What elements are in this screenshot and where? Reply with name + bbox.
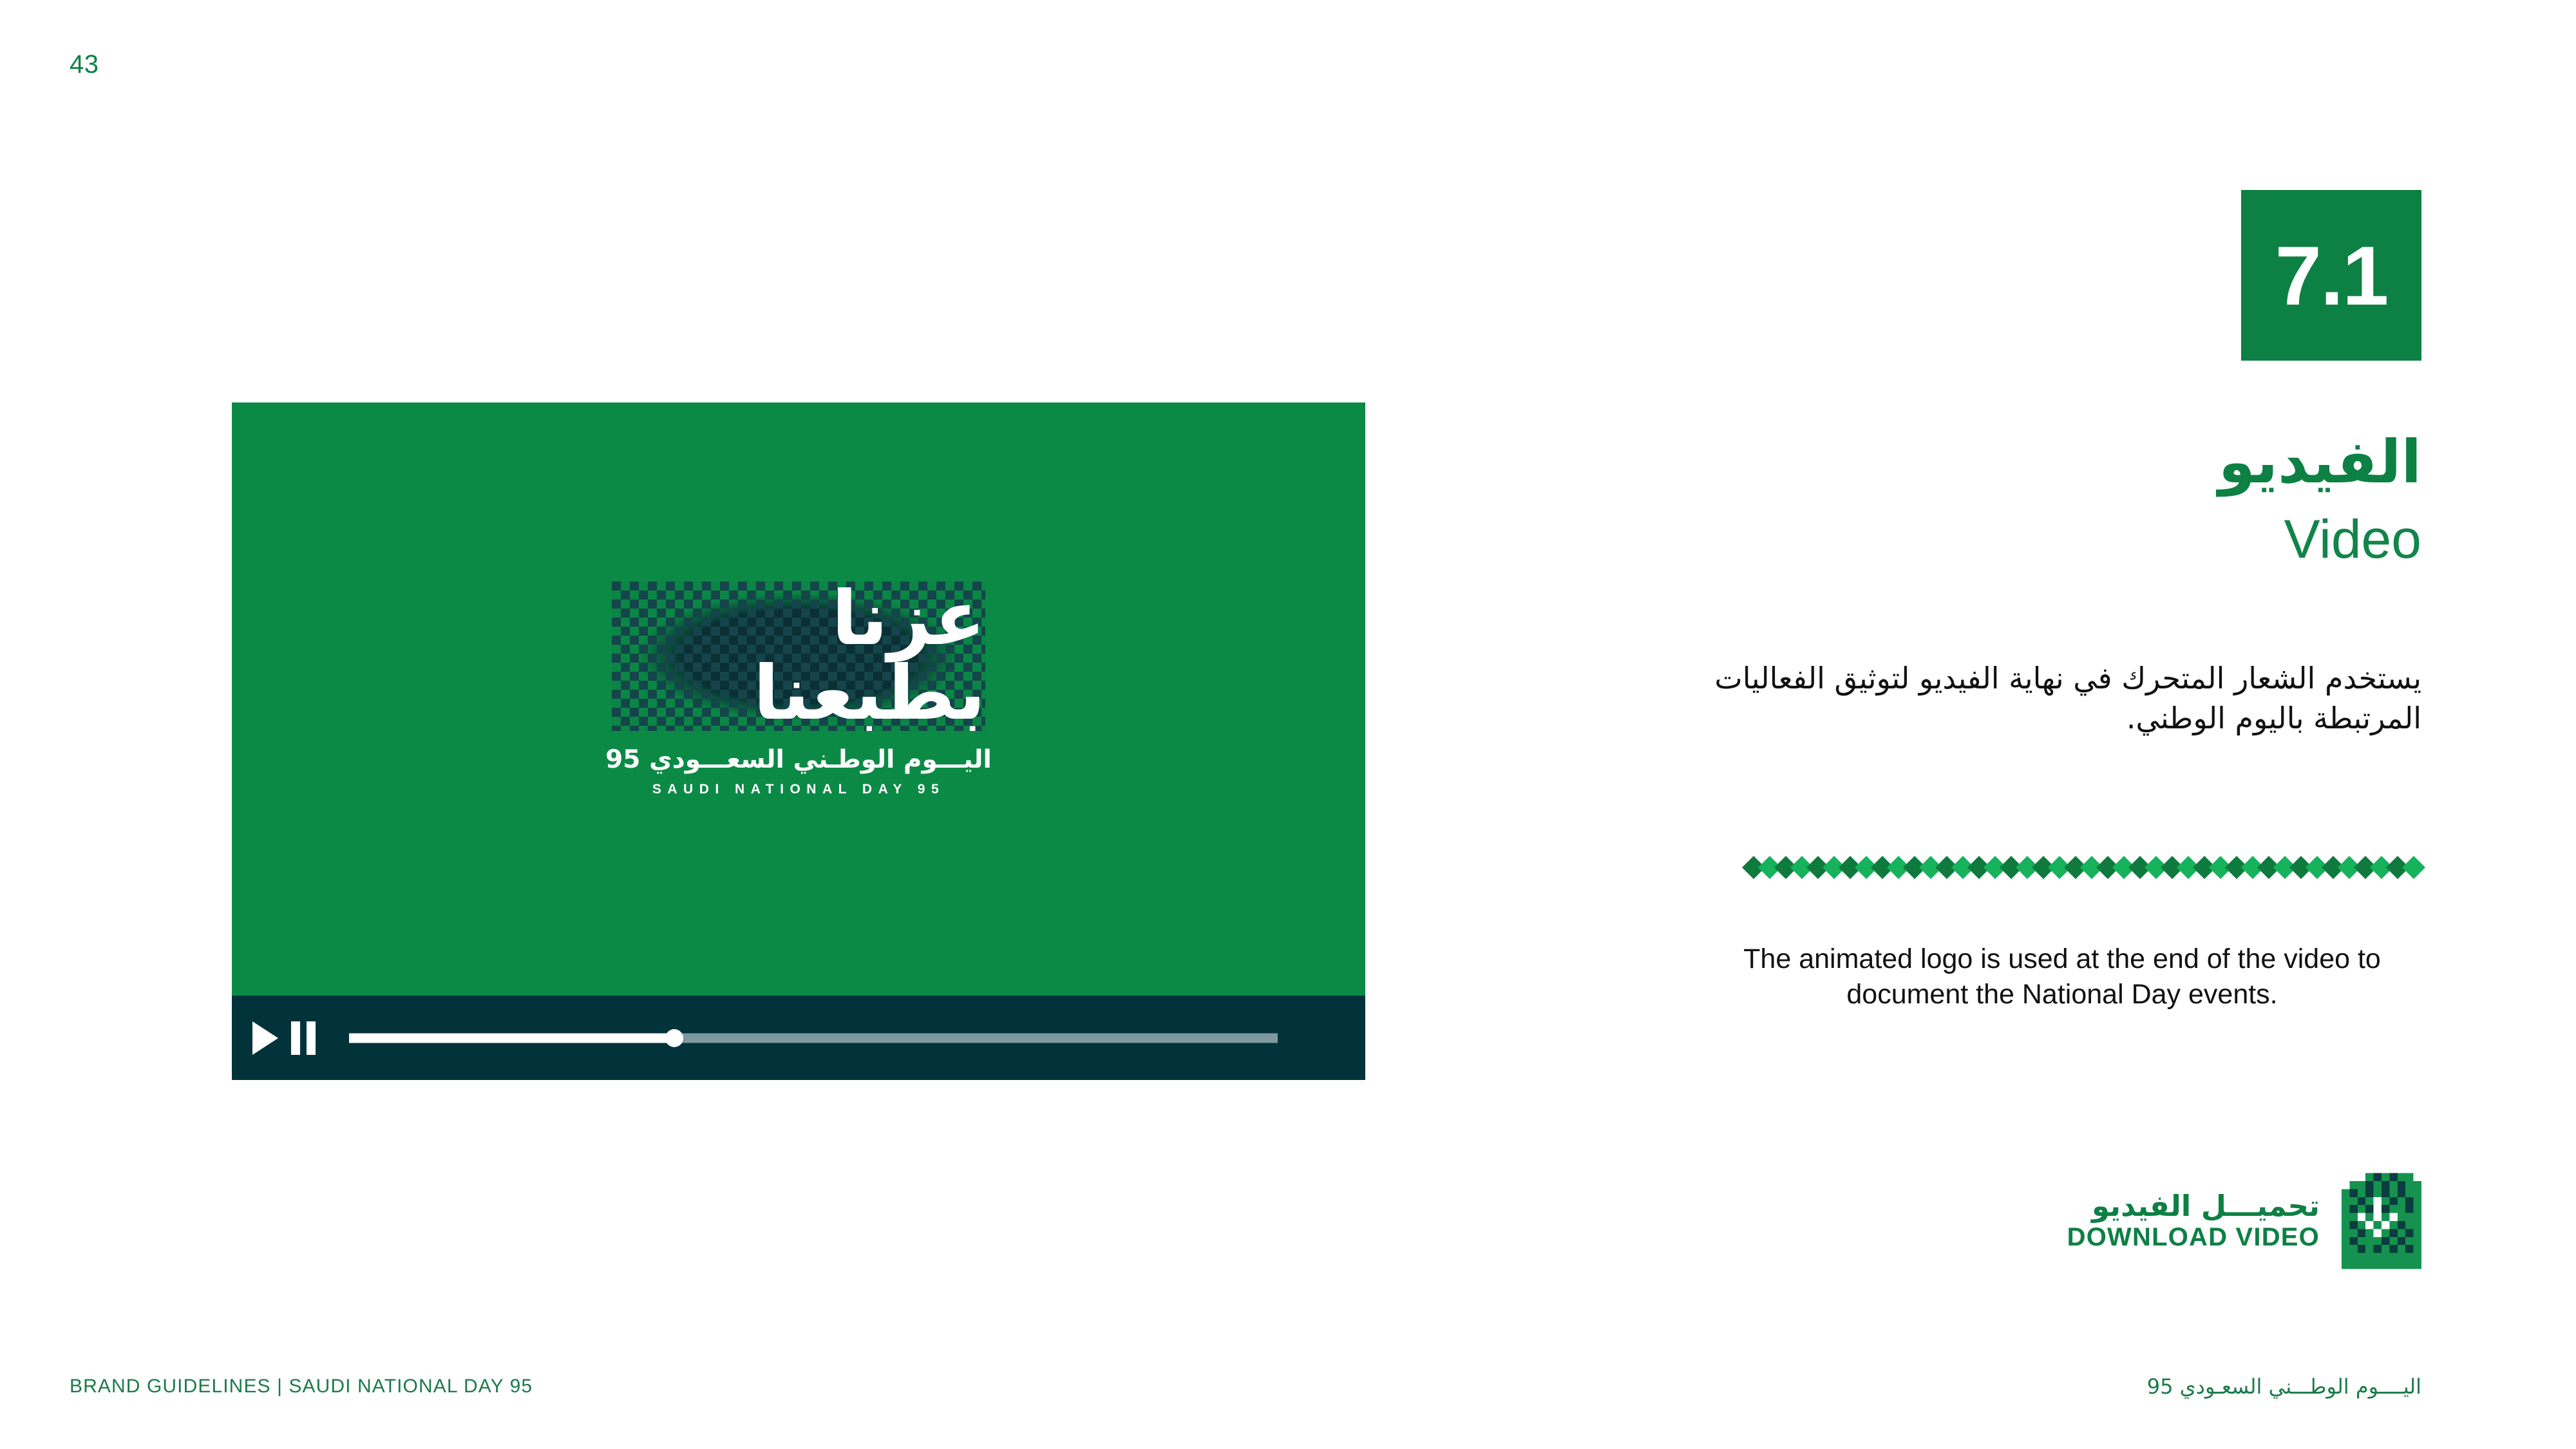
section-number-badge: 7.1: [2241, 190, 2421, 361]
video-stage: عزنا بطبعنا اليـــوم الوطـني السعـــودي …: [232, 402, 1365, 996]
download-label-arabic: تحميـــل الفيديو: [2067, 1190, 2320, 1222]
download-labels: تحميـــل الفيديو DOWNLOAD VIDEO: [2067, 1190, 2320, 1251]
footer-left-text: BRAND GUIDELINES | SAUDI NATIONAL DAY 95: [70, 1376, 533, 1397]
page-title-english: Video: [1636, 512, 2421, 566]
logo-subtitle-arabic: اليـــوم الوطـني السعـــودي 95: [605, 745, 992, 774]
logo-wordmark-arabic: عزنا بطبعنا: [612, 582, 985, 731]
download-label-english: DOWNLOAD VIDEO: [2067, 1223, 2320, 1252]
play-icon[interactable]: [252, 1021, 278, 1055]
section-number-label: 7.1: [2275, 234, 2388, 317]
progress-scrubber[interactable]: [349, 1033, 1278, 1043]
logo-subtitle-english: SAUDI NATIONAL DAY 95: [652, 782, 945, 797]
animated-logo-lockup: عزنا بطبعنا اليـــوم الوطـني السعـــودي …: [602, 582, 995, 797]
divider-diamond: [2401, 856, 2425, 879]
video-control-bar[interactable]: [232, 996, 1365, 1080]
body-text-arabic: يستخدم الشعار المتحرك في نهاية الفيديو ل…: [1636, 658, 2421, 738]
right-content-column: 7.1 الفيديو Video يستخدم الشعار المتحرك …: [1636, 0, 2421, 1449]
progress-handle[interactable]: [665, 1029, 683, 1047]
page-number: 43: [70, 50, 99, 79]
page-title-arabic: الفيديو: [1636, 433, 2421, 492]
progress-fill: [349, 1033, 674, 1043]
pause-icon[interactable]: [291, 1021, 316, 1055]
footer-right-text: اليــــوم الوطـــني السعـودي 95: [2147, 1374, 2421, 1399]
download-arrow-pixel-icon[interactable]: [2342, 1172, 2421, 1270]
logo-checkerboard-block: عزنا بطبعنا: [612, 582, 985, 731]
download-video-button[interactable]: تحميـــل الفيديو DOWNLOAD VIDEO: [2067, 1172, 2421, 1270]
brand-guidelines-page: 43 عزنا بطبعنا اليـــوم الوطـني السعـــو…: [0, 0, 2576, 1449]
body-text-english: The animated logo is used at the end of …: [1708, 942, 2416, 1012]
video-player[interactable]: عزنا بطبعنا اليـــوم الوطـني السعـــودي …: [232, 402, 1365, 1080]
diamond-divider: [1665, 857, 2421, 878]
